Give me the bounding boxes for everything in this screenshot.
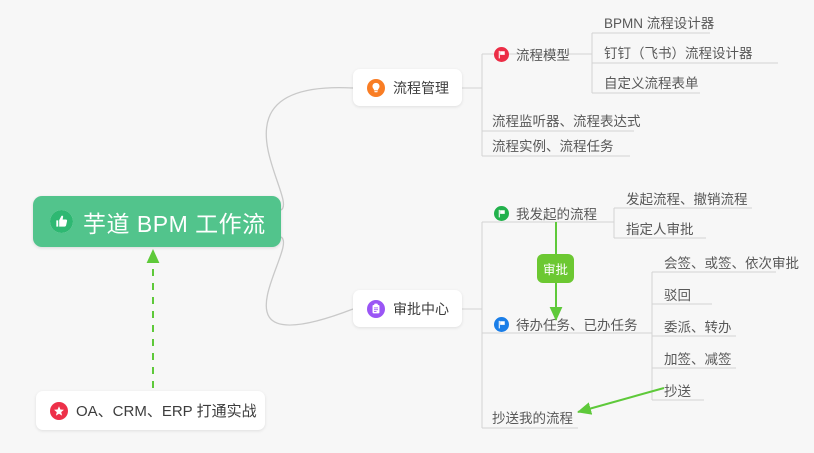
branch-label-approval-center: 审批中心 (393, 299, 449, 319)
leaf-process-model[interactable]: 流程模型 (494, 44, 570, 68)
leaf-dingtalk-designer[interactable]: 钉钉（飞书）流程设计器 (604, 42, 753, 66)
flag-icon (494, 317, 509, 332)
leaf-label-process-instance: 流程实例、流程任务 (492, 135, 614, 155)
root-label: 芋道 BPM 工作流 (83, 205, 266, 239)
leaf-add-remove-sign[interactable]: 加签、减签 (664, 348, 732, 372)
lightbulb-icon (367, 79, 385, 97)
approval-annotation-tag[interactable]: 审批 (537, 254, 574, 283)
leaf-bpmn-designer[interactable]: BPMN 流程设计器 (604, 12, 714, 36)
leaf-start-cancel-process[interactable]: 发起流程、撤销流程 (626, 188, 748, 212)
leaf-label-assignee-approval: 指定人审批 (626, 218, 694, 238)
mindmap-canvas: 芋道 BPM 工作流 流程管理 流程模型 BPMN 流程设计器 钉钉（飞书）流程… (0, 0, 814, 453)
leaf-label-process-model: 流程模型 (516, 44, 570, 64)
leaf-reject[interactable]: 驳回 (664, 284, 691, 308)
flag-icon (494, 47, 509, 62)
leaf-assignee-approval[interactable]: 指定人审批 (626, 218, 694, 242)
leaf-label-todo-done-tasks: 待办任务、已办任务 (516, 314, 638, 334)
leaf-label-custom-form: 自定义流程表单 (604, 72, 699, 92)
leaf-process-instance[interactable]: 流程实例、流程任务 (492, 135, 614, 159)
leaf-custom-form[interactable]: 自定义流程表单 (604, 72, 699, 96)
star-icon (50, 402, 68, 420)
integration-node-label: OA、CRM、ERP 打通实战 (76, 400, 257, 421)
leaf-countersign[interactable]: 会签、或签、依次审批 (664, 252, 799, 276)
flag-icon (494, 206, 509, 221)
leaf-label-cc-to-me-processes: 抄送我的流程 (492, 407, 573, 427)
leaf-label-my-initiated-processes: 我发起的流程 (516, 203, 597, 223)
leaf-label-process-listener: 流程监听器、流程表达式 (492, 110, 641, 130)
edge-root-to-process-mgmt (266, 88, 353, 210)
leaf-label-carbon-copy: 抄送 (664, 380, 691, 400)
leaf-label-delegate-transfer: 委派、转办 (664, 316, 732, 336)
branch-node-approval-center[interactable]: 审批中心 (353, 290, 462, 327)
branch-label-process-management: 流程管理 (393, 78, 449, 98)
leaf-process-listener[interactable]: 流程监听器、流程表达式 (492, 110, 641, 134)
leaf-label-add-remove-sign: 加签、减签 (664, 348, 732, 368)
leaf-todo-done-tasks[interactable]: 待办任务、已办任务 (494, 314, 638, 338)
leaf-carbon-copy[interactable]: 抄送 (664, 380, 691, 404)
root-node[interactable]: 芋道 BPM 工作流 (33, 196, 281, 247)
leaf-label-dingtalk-designer: 钉钉（飞书）流程设计器 (604, 42, 753, 62)
clipboard-icon (367, 300, 385, 318)
arrow-cc-to-my-cc-processes (578, 388, 664, 412)
integration-node[interactable]: OA、CRM、ERP 打通实战 (36, 391, 265, 430)
leaf-label-reject: 驳回 (664, 284, 691, 304)
leaf-label-start-cancel-process: 发起流程、撤销流程 (626, 188, 748, 208)
approval-annotation-label: 审批 (543, 259, 568, 278)
leaf-label-countersign: 会签、或签、依次审批 (664, 252, 799, 272)
thumbs-up-icon (50, 210, 73, 233)
leaf-label-bpmn-designer: BPMN 流程设计器 (604, 12, 714, 32)
leaf-delegate-transfer[interactable]: 委派、转办 (664, 316, 732, 340)
edge-root-to-approval-center (266, 237, 353, 325)
leaf-cc-to-me-processes[interactable]: 抄送我的流程 (492, 407, 573, 431)
branch-node-process-management[interactable]: 流程管理 (353, 69, 462, 106)
leaf-my-initiated-processes[interactable]: 我发起的流程 (494, 203, 597, 227)
